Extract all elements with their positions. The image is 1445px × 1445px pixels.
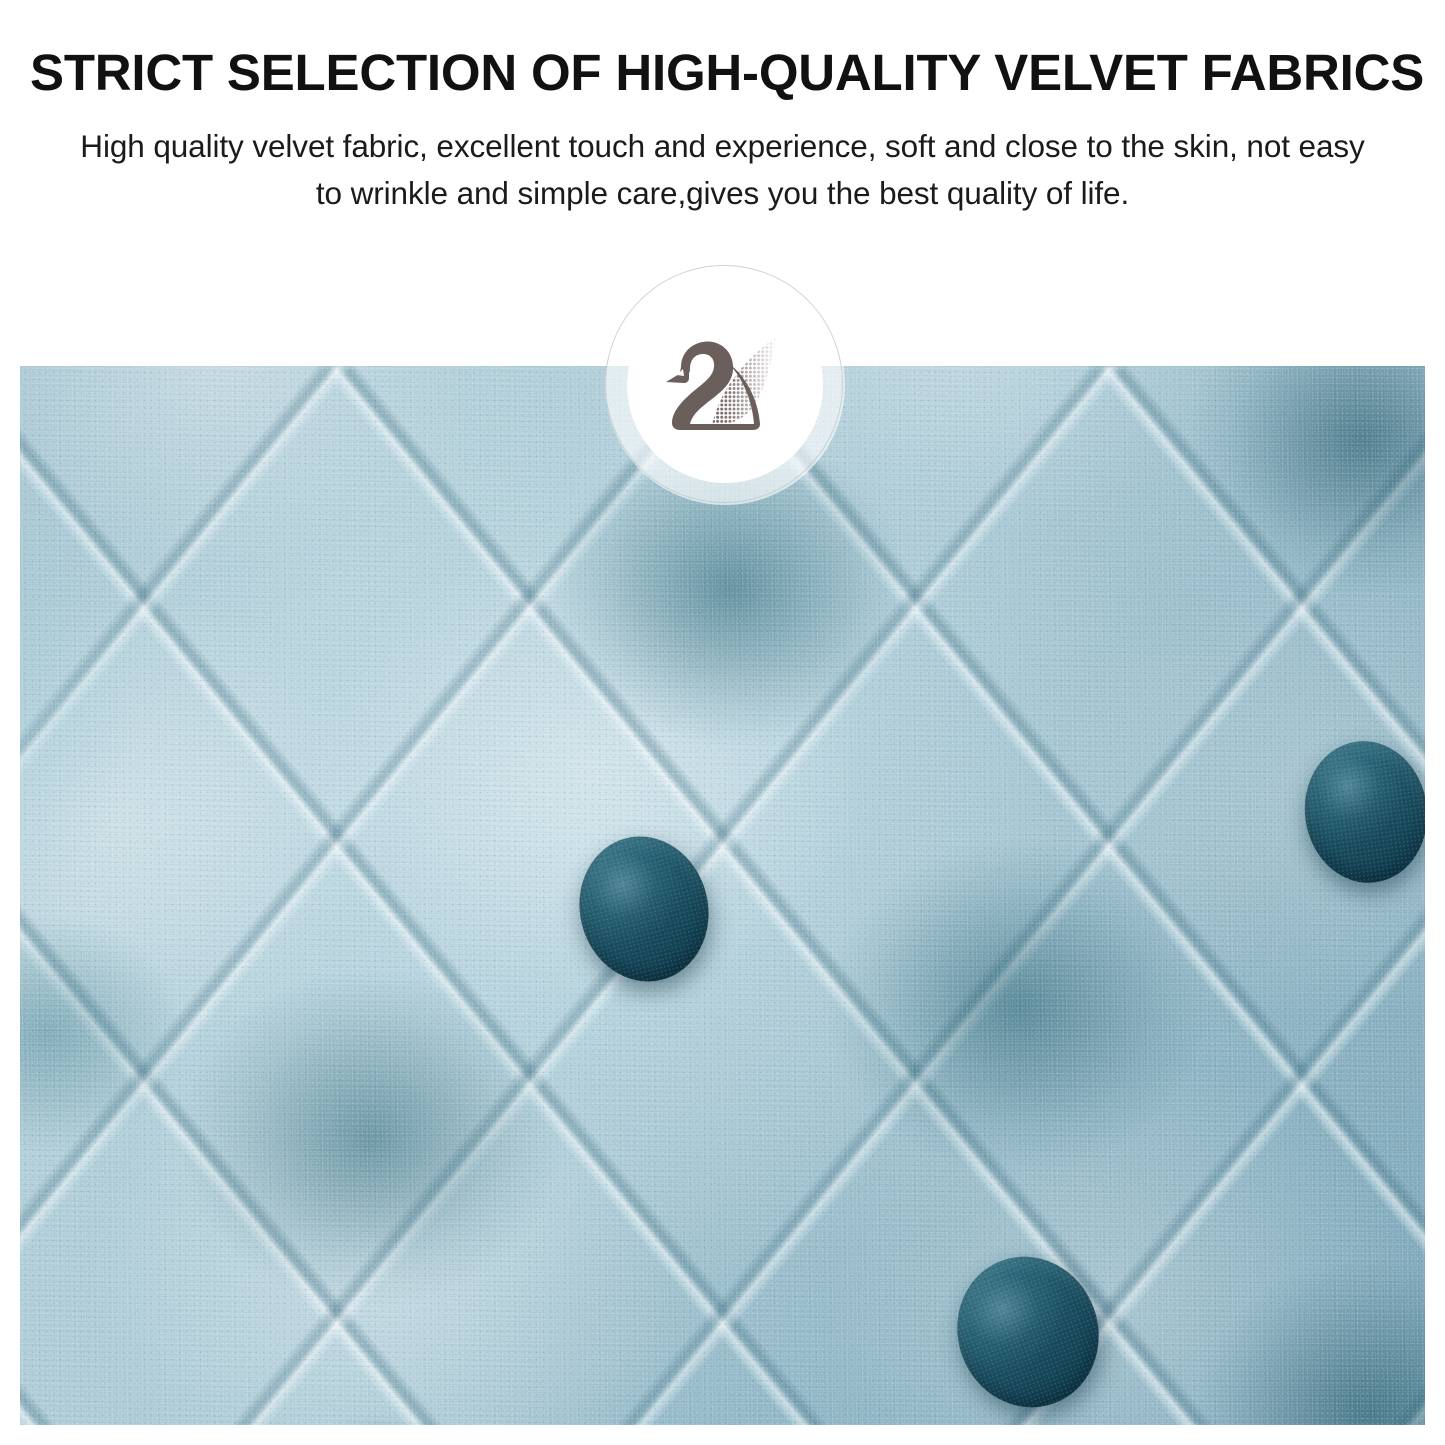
badge-inner-circle	[627, 287, 823, 483]
product-feature-page: STRICT SELECTION OF HIGH-QUALITY VELVET …	[0, 0, 1445, 1445]
header-block: STRICT SELECTION OF HIGH-QUALITY VELVET …	[0, 0, 1445, 216]
page-title: STRICT SELECTION OF HIGH-QUALITY VELVET …	[0, 44, 1445, 101]
velvet-weave-texture	[20, 366, 1425, 1425]
swan-icon	[650, 325, 800, 445]
swan-logo-badge	[605, 265, 845, 505]
velvet-fabric-photo	[20, 366, 1425, 1425]
velvet-base-layer	[20, 366, 1425, 1425]
page-subtitle: High quality velvet fabric, excellent to…	[73, 123, 1373, 216]
